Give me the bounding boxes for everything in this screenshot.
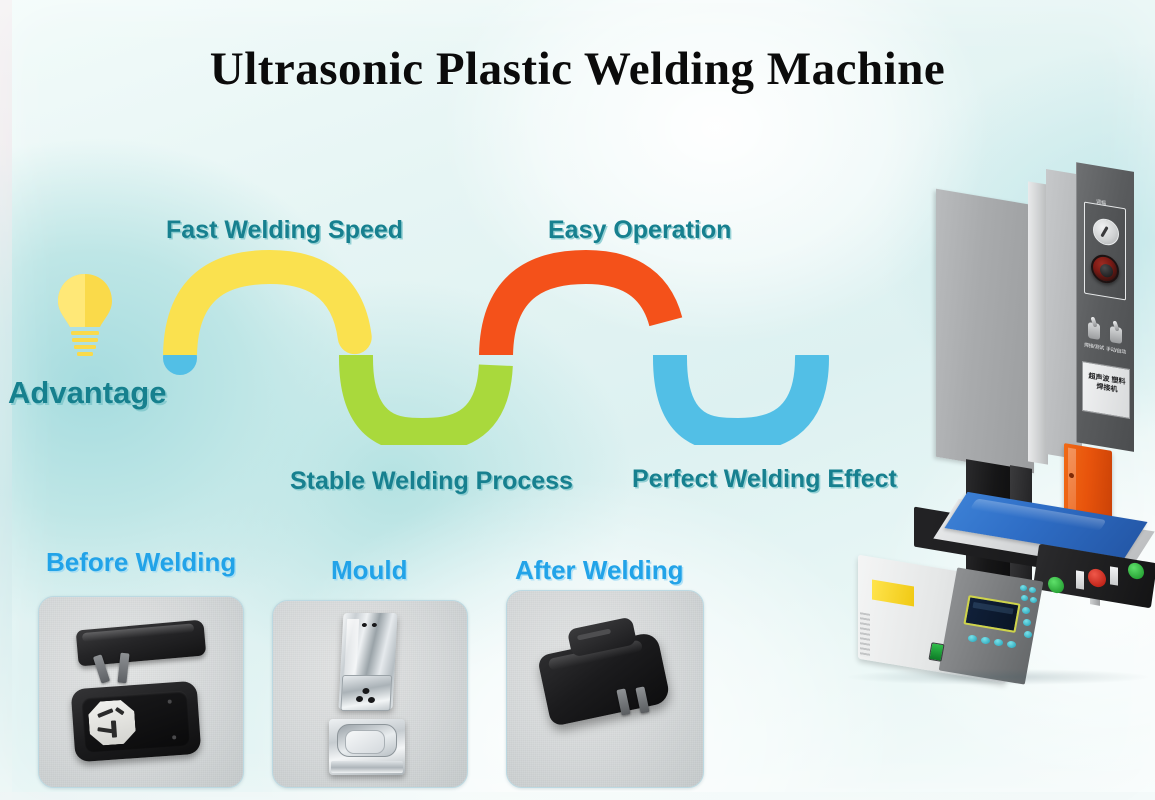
horn-face (340, 675, 392, 711)
page-title: Ultrasonic Plastic Welding Machine (0, 42, 1155, 96)
photo-before-welding (38, 596, 244, 788)
button-divider-right (1110, 566, 1118, 585)
plug-cavity (81, 690, 191, 752)
fixture-cavity (337, 724, 397, 757)
toggle-switch-manual-auto[interactable] (1110, 326, 1122, 344)
toggle-switch-weld-test[interactable] (1088, 322, 1100, 340)
poster-canvas: Ultrasonic Plastic Welding Machine (0, 0, 1155, 800)
gauge-label: 调幅 (1096, 198, 1106, 207)
label-easy-operation: Easy Operation (548, 216, 731, 245)
advantage-heading: Advantage (8, 375, 166, 411)
photo-mould (272, 600, 468, 788)
mould-fixture (329, 719, 405, 775)
welding-horn (338, 613, 397, 709)
machine-illustration: 调幅 焊接/测试 手动/自动 超声波 塑料焊接机 (838, 175, 1155, 695)
machine-head-left-panel (936, 189, 1034, 473)
photo-after-welding (506, 590, 704, 788)
machine-head-seam (1028, 181, 1048, 464)
caption-mould: Mould (331, 555, 408, 586)
label-stable-welding-process: Stable Welding Process (290, 467, 573, 496)
button-divider-left (1076, 570, 1084, 589)
controller-vents (860, 612, 870, 658)
plug-lower-half (71, 681, 202, 763)
label-fast-welding-speed: Fast Welding Speed (166, 216, 403, 245)
machine-ground-shadow (848, 669, 1148, 685)
actuator-bolt-top (1069, 473, 1074, 479)
advantage-wave-diagram (160, 245, 880, 445)
plug-socket-insert (88, 699, 137, 746)
caption-before-welding: Before Welding (46, 547, 236, 578)
caption-after-welding: After Welding (515, 555, 684, 586)
fixture-lip (331, 761, 403, 773)
control-panel-inset (1084, 201, 1126, 300)
lightbulb-icon (55, 272, 115, 364)
